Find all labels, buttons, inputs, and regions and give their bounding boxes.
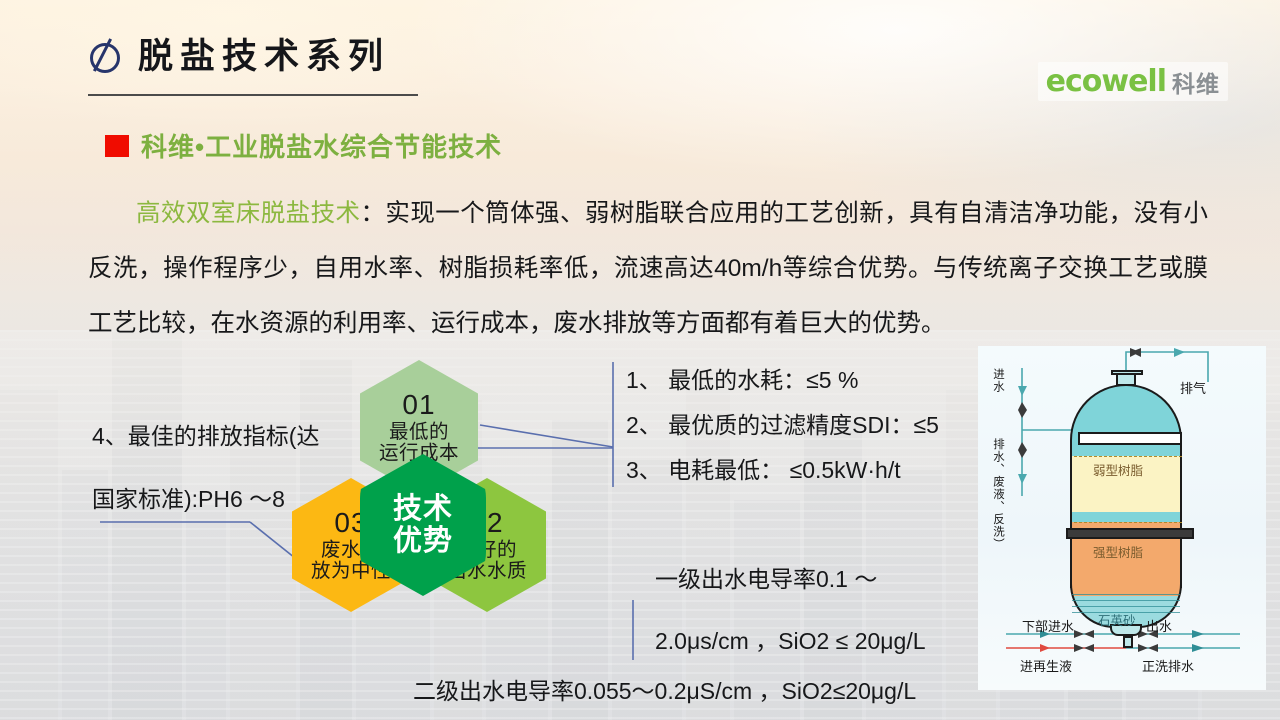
paragraph-lead-term: 高效双室床脱盐技术 [136,200,360,227]
label-regenerant: 进再生液 [1020,656,1072,675]
callout-left: 4、最佳的排放指标(达 国家标准):PH6 ～8 [92,405,319,531]
hexagon-number: 01 [402,390,435,420]
label-inlet: 进水 [990,368,1006,393]
callout-line: 一级出水电导率0.1 ～ [655,548,926,610]
label-strong-resin: 强型树脂 [1093,542,1143,561]
hexagon-cluster: 01 最低的 运行成本 02 最好的 出水水质 03 废水排 放为中性 技术 优… [276,352,576,652]
callout-line: 国家标准):PH6 ～8 [92,468,319,531]
red-square-bullet-icon [105,135,129,157]
callout-bottom: 二级出水电导率0.055～0.2μS/cm ，SiO2≤20μg/L [413,672,916,706]
label-weak-resin: 弱型树脂 [1093,460,1143,479]
callout-line: 3、 电耗最低： ≤0.5kW·h/t [626,448,939,493]
hexagon-label-line1: 最低的 [389,422,449,443]
label-outlet: 出水 [1146,616,1172,635]
callout-line: 4、最佳的排放指标(达 [92,405,319,468]
vessel-body [1070,384,1182,616]
logo-text-ecowell: ecowell [1046,64,1166,99]
callout-line: 2、 最优质的过滤精度SDI：≤5 [626,403,939,448]
callout-right-top: 1、 最低的水耗：≤5 % 2、 最优质的过滤精度SDI：≤5 3、 电耗最低：… [626,358,939,493]
logo-text-keiwei: 科维 [1172,65,1220,99]
hexagon-center-line1: 技术 [393,493,453,525]
slide-root: 脱盐技术系列 ecowell 科维 科维•工业脱盐水综合节能技术 高效双室床脱盐… [0,0,1280,720]
subtitle-label: 科维•工业脱盐水综合节能技术 [141,127,502,164]
callout-right-bottom: 一级出水电导率0.1 ～ 2.0μs/cm ，SiO2 ≤ 20μg/L [655,548,926,672]
vessel-process-diagram: 进水 排水、废液、反洗） 排气 弱型树脂 强型树脂 石英砂 下部进水 出水 进再… [978,346,1266,690]
label-bottom-inlet: 下部进水 [1022,616,1074,635]
hexagon-center-line2: 优势 [393,525,453,557]
slide-header: 脱盐技术系列 [86,28,390,79]
body-paragraph: 高效双室床脱盐技术：实现一个筒体强、弱树脂联合应用的工艺创新，具有自清洁净功能，… [88,186,1208,351]
diameter-phi-icon [86,37,120,71]
label-drain: 排水、废液、反洗） [990,438,1006,568]
callout-line: 2.0μs/cm ，SiO2 ≤ 20μg/L [655,610,926,672]
section-subtitle: 科维•工业脱盐水综合节能技术 [105,127,502,164]
title-underline-divider [88,94,418,96]
label-quartz-sand: 石英砂 [1098,610,1136,629]
page-title: 脱盐技术系列 [138,28,390,79]
label-vent: 排气 [1180,378,1206,397]
callout-line: 1、 最低的水耗：≤5 % [626,358,939,403]
brand-logo: ecowell 科维 [1038,62,1228,101]
label-rinse-drain: 正洗排水 [1142,656,1194,675]
